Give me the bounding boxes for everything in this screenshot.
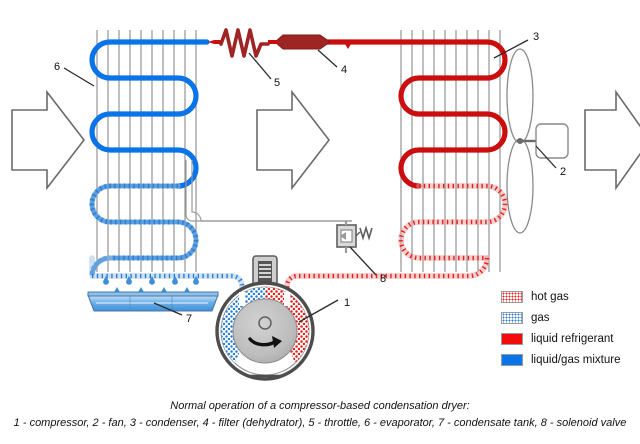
legend-item-hot-gas: hot gas — [501, 286, 636, 307]
airflow-arrow-middle — [257, 92, 329, 188]
callout-8: 8 — [380, 273, 386, 285]
caption-line-2: 1 - compressor, 2 - fan, 3 - condenser, … — [0, 415, 640, 432]
diagram-canvas: 1 2 3 4 5 6 7 8 hot gas gas liquid refri… — [0, 0, 640, 444]
solenoid-valve — [337, 221, 372, 253]
discharge-line-hotgas — [287, 258, 487, 300]
airflow-arrow-left — [12, 92, 84, 188]
filter-dehydrator — [268, 35, 340, 49]
callout-6: 6 — [54, 61, 60, 73]
callout-4: 4 — [341, 64, 347, 76]
legend-swatch-liquid-refrigerant — [501, 333, 523, 345]
callout-3: 3 — [533, 31, 539, 43]
throttle — [221, 30, 268, 56]
airflow-arrow-right — [585, 92, 640, 188]
callout-leaders — [64, 40, 556, 322]
legend-label-liquid-refrigerant: liquid refrigerant — [531, 333, 613, 345]
callout-7: 7 — [186, 313, 192, 325]
refrigeration-cycle-diagram: 1 2 3 4 5 6 7 8 — [0, 0, 640, 444]
callout-1: 1 — [344, 297, 350, 309]
legend-item-liquid-gas-mixture: liquid/gas mixture — [501, 349, 636, 370]
evaporator-coil-mixture — [92, 42, 207, 186]
legend-item-liquid-refrigerant: liquid refrigerant — [501, 328, 636, 349]
legend-item-gas: gas — [501, 307, 636, 328]
discharge-line-hotgas-outline — [287, 258, 487, 300]
fan — [507, 49, 568, 233]
caption: Normal operation of a compressor-based c… — [0, 398, 640, 432]
condensate-tank — [88, 292, 218, 311]
callout-2: 2 — [560, 166, 566, 178]
legend-swatch-hot-gas — [501, 291, 523, 303]
callout-5: 5 — [274, 77, 280, 89]
legend-label-hot-gas: hot gas — [531, 291, 569, 303]
legend-label-liquid-gas-mixture: liquid/gas mixture — [531, 354, 620, 366]
caption-line-1: Normal operation of a compressor-based c… — [0, 398, 640, 415]
legend: hot gas gas liquid refrigerant liquid/ga… — [501, 286, 636, 370]
legend-swatch-gas — [501, 312, 523, 324]
legend-label-gas: gas — [531, 312, 550, 324]
condenser-coil-liquid — [306, 42, 505, 186]
legend-swatch-liquid-gas-mixture — [501, 354, 523, 366]
